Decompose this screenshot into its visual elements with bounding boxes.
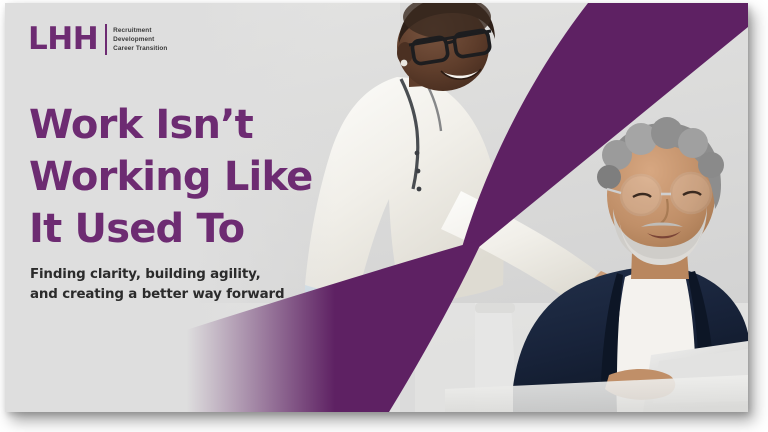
cover-photo (5, 3, 748, 412)
logo-tagline-line-1: Recruitment (113, 26, 167, 35)
lhh-logo[interactable]: LHH Recruitment Development Career Trans… (28, 24, 167, 55)
logo-divider (105, 24, 107, 55)
lhh-logo-mark: LHH (28, 24, 98, 55)
cover-photo-illustration (5, 3, 748, 412)
logo-tagline-line-2: Development (113, 35, 167, 44)
slide-card: LHH Recruitment Development Career Trans… (5, 3, 748, 412)
logo-tagline-line-3: Career Transition (113, 44, 167, 53)
logo-tagline: Recruitment Development Career Transitio… (113, 24, 167, 54)
